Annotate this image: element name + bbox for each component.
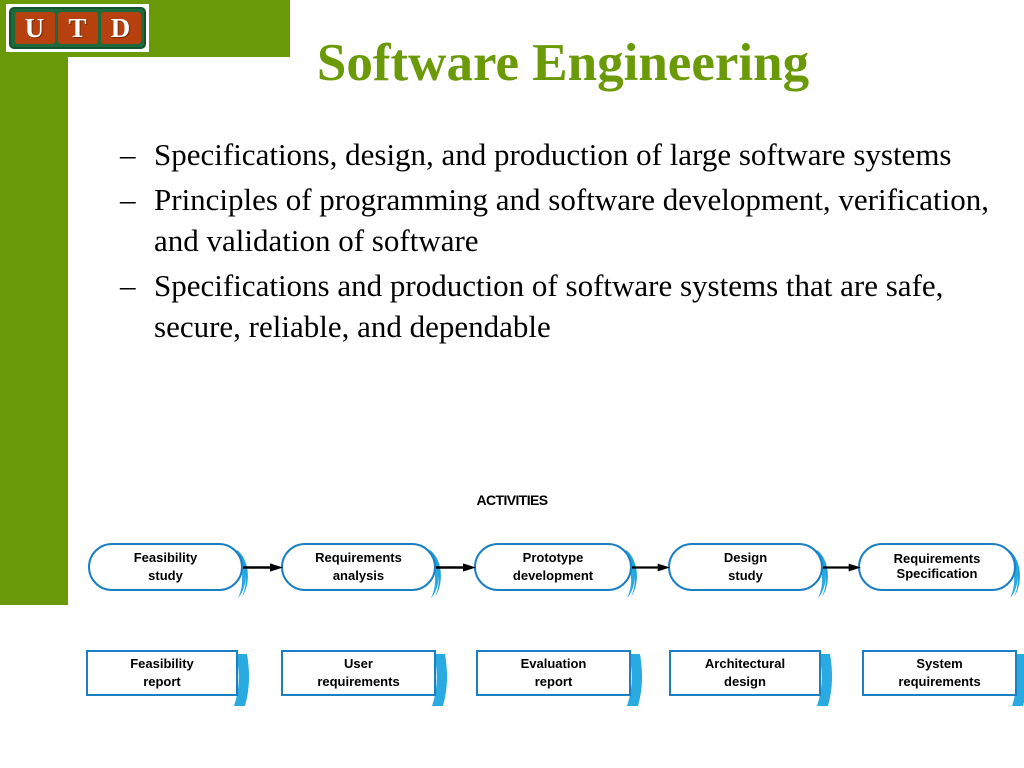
utd-logo-letter-d: D — [101, 12, 141, 44]
activity-node-label: RequirementsSpecification — [894, 552, 981, 581]
activity-node-requirements-specification[interactable]: RequirementsSpecification — [858, 543, 1016, 591]
activity-node-label: Feasibilitystudy — [134, 549, 198, 584]
bullet-dash-icon: – — [120, 135, 154, 176]
deliverable-node-user-requirements[interactable]: Userrequirements — [281, 650, 436, 696]
page-title: Software Engineering — [118, 36, 1008, 92]
software-process-diagram: ACTIVITIES Feasibilitystudy Requirements… — [0, 492, 1024, 768]
utd-logo-letter-u: U — [15, 12, 55, 44]
deliverable-node-label: Evaluationreport — [521, 655, 587, 690]
bullet-item-text: Specifications and production of softwar… — [154, 266, 1000, 348]
bullet-list: – Specifications, design, and production… — [120, 135, 1000, 352]
flow-arrow-icon — [823, 563, 861, 572]
activity-node-label: Designstudy — [724, 549, 767, 584]
bullet-item-text: Principles of programming and software d… — [154, 180, 1000, 262]
flow-arrow-icon — [243, 563, 283, 572]
bullet-item: – Principles of programming and software… — [120, 180, 1000, 262]
bullet-item: – Specifications and production of softw… — [120, 266, 1000, 348]
activities-section-label: ACTIVITIES — [0, 492, 1024, 508]
flow-arrow-icon — [436, 563, 476, 572]
bullet-dash-icon: – — [120, 180, 154, 221]
deliverable-node-evaluation-report[interactable]: Evaluationreport — [476, 650, 631, 696]
flow-arrow-icon — [632, 563, 670, 572]
deliverable-node-architectural-design[interactable]: Architecturaldesign — [669, 650, 821, 696]
bullet-item-text: Specifications, design, and production o… — [154, 135, 1000, 176]
deliverable-node-label: Userrequirements — [317, 655, 399, 690]
deliverable-node-system-requirements[interactable]: Systemrequirements — [862, 650, 1017, 696]
utd-logo: U T D — [6, 4, 149, 52]
deliverable-node-label: Feasibilityreport — [130, 655, 194, 690]
deliverable-node-label: Systemrequirements — [898, 655, 980, 690]
deliverable-node-feasibility-report[interactable]: Feasibilityreport — [86, 650, 238, 696]
activity-node-requirements-analysis[interactable]: Requirementsanalysis — [281, 543, 436, 591]
utd-logo-plate: U T D — [9, 7, 146, 49]
activity-node-label: Requirementsanalysis — [315, 549, 402, 584]
bullet-item: – Specifications, design, and production… — [120, 135, 1000, 176]
activity-node-design-study[interactable]: Designstudy — [668, 543, 823, 591]
bullet-dash-icon: – — [120, 266, 154, 307]
activity-node-prototype-development[interactable]: Prototypedevelopment — [474, 543, 632, 591]
activity-node-feasibility-study[interactable]: Feasibilitystudy — [88, 543, 243, 591]
utd-logo-letter-t: T — [58, 12, 98, 44]
activity-node-label: Prototypedevelopment — [513, 549, 593, 584]
deliverable-node-label: Architecturaldesign — [705, 655, 785, 690]
